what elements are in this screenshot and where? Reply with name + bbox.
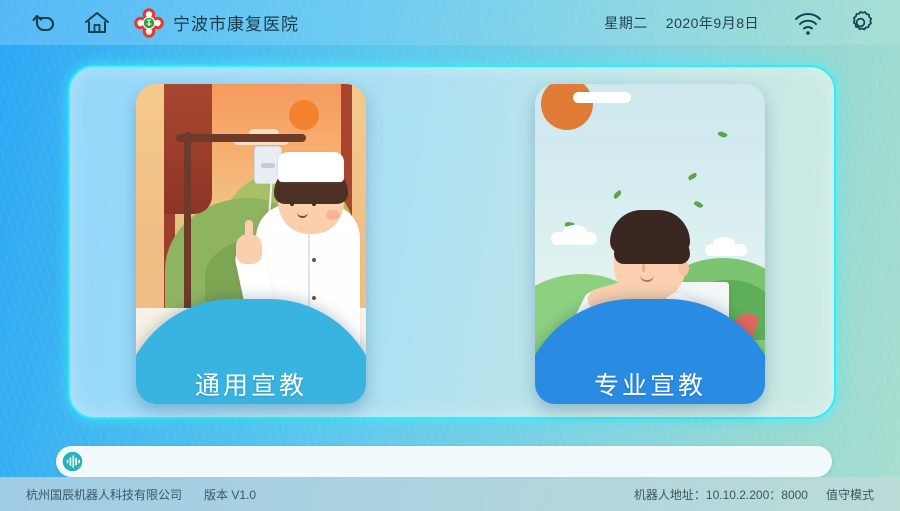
home-icon[interactable] [82, 8, 112, 38]
card-professional-education[interactable]: 专业宣教 [535, 84, 765, 404]
weekday-label: 星期二 [604, 13, 648, 33]
voice-waveform-icon[interactable] [60, 449, 85, 474]
card-professional-label: 专业宣教 [594, 366, 706, 402]
footer-bar: 杭州国辰机器人科技有限公司 版本 V1.0 机器人地址：10.10.2.200：… [0, 477, 900, 511]
gear-icon[interactable] [847, 9, 874, 36]
card-general-education[interactable]: 通用宣教 [136, 84, 366, 404]
date-label: 2020年9月8日 [666, 13, 759, 33]
header-left-group: 宁波市康复医院 [0, 8, 299, 38]
app-root: 宁波市康复医院 星期二 2020年9月8日 [0, 0, 900, 511]
footer-left-group: 杭州国辰机器人科技有限公司 版本 V1.0 [0, 486, 256, 503]
top-header-bar: 宁波市康复医院 星期二 2020年9月8日 [0, 0, 900, 45]
footer-version: 版本 V1.0 [204, 486, 256, 503]
voice-input-bar[interactable] [56, 446, 832, 477]
wifi-icon[interactable] [793, 10, 823, 36]
back-arrow-icon[interactable] [28, 8, 58, 38]
header-right-group: 星期二 2020年9月8日 [604, 9, 900, 36]
footer-robot-address: 机器人地址：10.10.2.200：8000 [634, 486, 808, 503]
footer-mode-status: 值守模式 [826, 486, 874, 503]
footer-right-group: 机器人地址：10.10.2.200：8000 值守模式 [634, 486, 900, 503]
footer-company: 杭州国辰机器人科技有限公司 [26, 486, 182, 503]
hospital-name: 宁波市康复医院 [173, 10, 299, 35]
card-general-label: 通用宣教 [195, 366, 307, 402]
hospital-cross-logo [134, 8, 164, 38]
